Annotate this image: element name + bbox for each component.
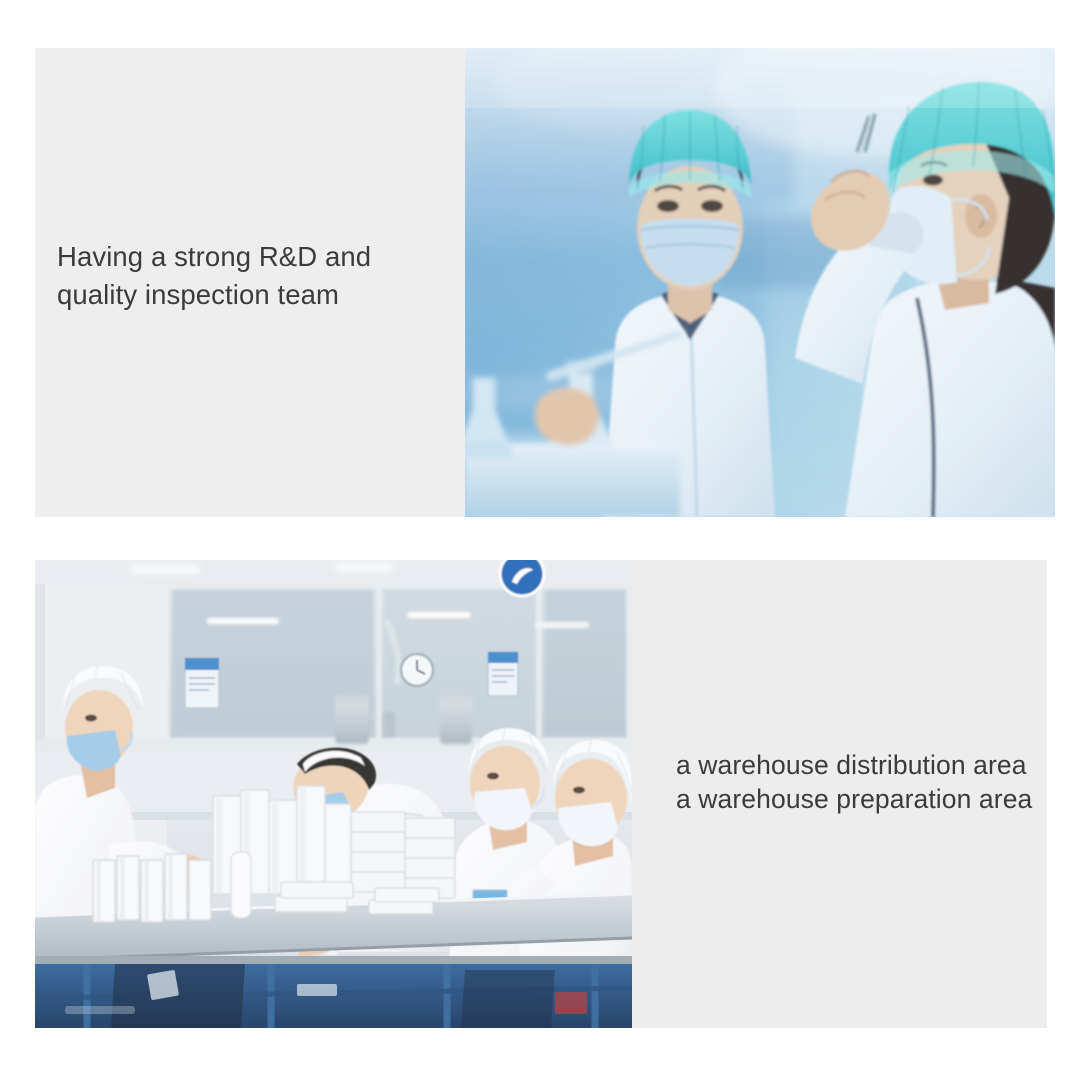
- warehouse-photo-illustration: [35, 560, 632, 1028]
- page-root: Having a strong R&D and quality inspecti…: [0, 0, 1080, 1080]
- warehouse-packing-photo: [35, 560, 632, 1028]
- top-caption-text: Having a strong R&D and quality inspecti…: [57, 238, 457, 314]
- top-caption-panel: Having a strong R&D and quality inspecti…: [35, 48, 465, 517]
- lab-technicians-photo: [465, 48, 1055, 517]
- bottom-caption-text: a warehouse distribution area a warehous…: [676, 748, 1080, 816]
- lab-photo-illustration: [465, 48, 1055, 517]
- bottom-caption-panel: a warehouse distribution area a warehous…: [632, 560, 1047, 1028]
- top-section: Having a strong R&D and quality inspecti…: [35, 48, 1055, 517]
- bottom-section: a warehouse distribution area a warehous…: [35, 560, 1047, 1028]
